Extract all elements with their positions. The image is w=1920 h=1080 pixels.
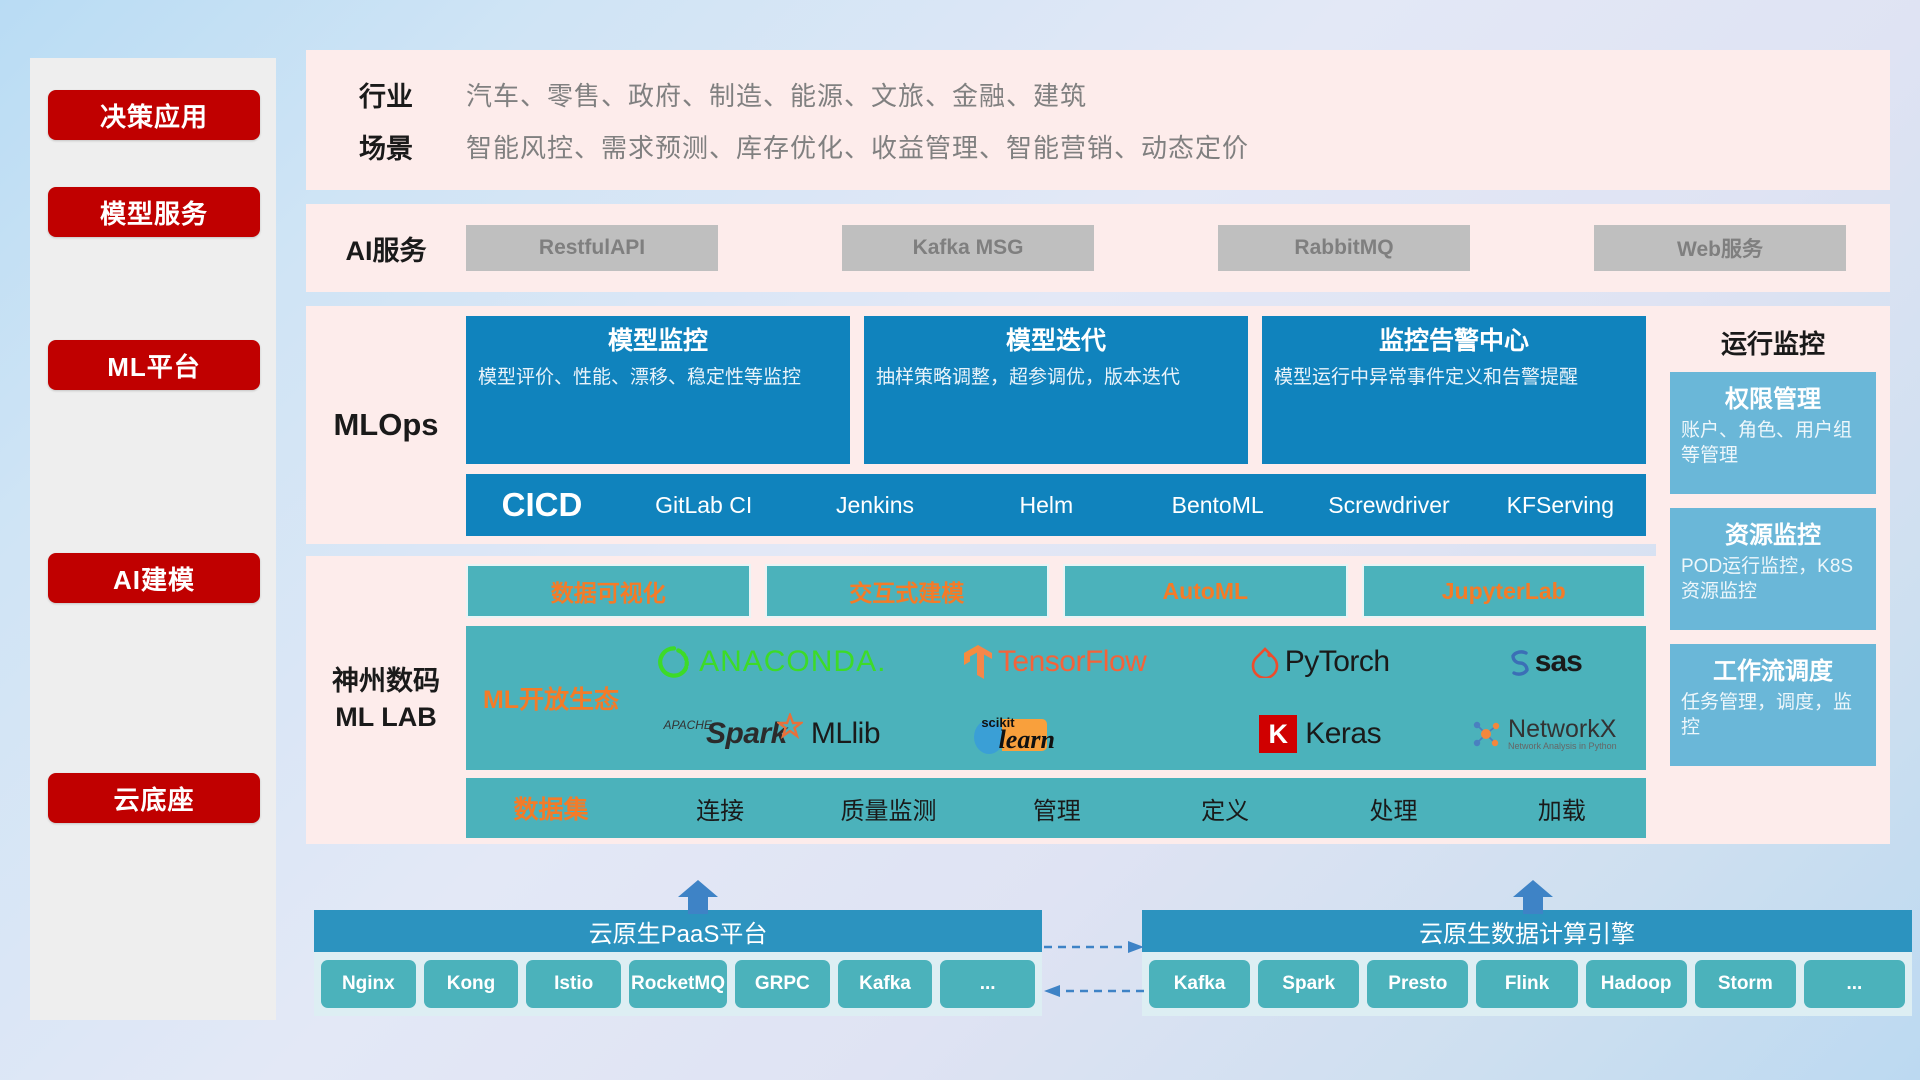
ml-lab-label-line1: 神州数码	[332, 664, 440, 700]
dataset-item-quality[interactable]: 质量监测	[804, 791, 972, 826]
tool-chip-automl[interactable]: AutoML	[1063, 564, 1348, 618]
paas-chip-nginx[interactable]: Nginx	[321, 960, 416, 1008]
pytorch-icon	[1251, 646, 1279, 678]
data-engine-chip-list: Kafka Spark Presto Flink Hadoop Storm ..…	[1142, 952, 1912, 1016]
platform-section: MLOps 模型监控 模型评价、性能、漂移、稳定性等监控 模型迭代 抽样策略调整…	[306, 306, 1890, 844]
card-title: 工作流调度	[1681, 651, 1865, 686]
cicd-item-bentoml[interactable]: BentoML	[1132, 491, 1303, 520]
engine-chip-presto[interactable]: Presto	[1367, 960, 1468, 1008]
learn-word: learn	[999, 725, 1055, 755]
mllib-wordmark: MLlib	[811, 717, 880, 751]
sas-wordmark: sas	[1535, 645, 1582, 679]
networkx-wordmark: NetworkX	[1508, 716, 1617, 742]
industry-label: 行业	[306, 75, 466, 114]
dataset-item-manage[interactable]: 管理	[973, 791, 1141, 826]
engine-chip-kafka[interactable]: Kafka	[1149, 960, 1250, 1008]
ml-lab-label: 神州数码 ML LAB	[306, 556, 466, 844]
ml-ecosystem-label: ML开放生态	[466, 680, 636, 716]
engine-chip-flink[interactable]: Flink	[1476, 960, 1577, 1008]
monitoring-card-permissions[interactable]: 权限管理 账户、角色、用户组等管理	[1670, 372, 1876, 494]
paas-chip-list: Nginx Kong Istio RocketMQ GRPC Kafka ...	[314, 952, 1042, 1016]
dataset-item-process[interactable]: 处理	[1309, 791, 1477, 826]
tensorflow-logo: TensorFlow	[908, 644, 1201, 680]
spark-mllib-logo: APACHE Spark MLlib	[636, 717, 908, 751]
arrow-up-to-ml-lab-right	[1511, 880, 1555, 914]
spark-star-icon	[777, 713, 803, 739]
cloud-group-data-engine: 云原生数据计算引擎 Kafka Spark Presto Flink Hadoo…	[1142, 910, 1912, 1016]
scenario-values: 智能风控、需求预测、库存优化、收益管理、智能营销、动态定价	[466, 128, 1249, 165]
tensorflow-icon	[962, 644, 994, 680]
rail-chip-ml-platform[interactable]: ML平台	[48, 340, 260, 390]
engine-chip-spark[interactable]: Spark	[1258, 960, 1359, 1008]
scenario-row: 场景 智能风控、需求预测、库存优化、收益管理、智能营销、动态定价	[306, 120, 1890, 172]
architecture-main: 行业 汽车、零售、政府、制造、能源、文旅、金融、建筑 场景 智能风控、需求预测、…	[306, 50, 1890, 844]
ecosystem-logo-row-1: ANACONDA. TensorFlow	[636, 626, 1646, 698]
paas-chip-more[interactable]: ...	[940, 960, 1035, 1008]
cicd-item-screwdriver[interactable]: Screwdriver	[1303, 491, 1474, 520]
cicd-item-gitlab[interactable]: GitLab CI	[618, 491, 789, 520]
pytorch-logo: PyTorch	[1201, 645, 1440, 679]
anaconda-wordmark: ANACONDA.	[699, 645, 886, 679]
mlops-body: 模型监控 模型评价、性能、漂移、稳定性等监控 模型迭代 抽样策略调整，超参调优，…	[466, 306, 1656, 544]
monitoring-band: 运行监控 权限管理 账户、角色、用户组等管理 资源监控 POD运行监控，K8S资…	[1656, 306, 1890, 844]
monitoring-title: 运行监控	[1670, 316, 1876, 372]
rail-chip-label: ML平台	[107, 347, 201, 384]
rail-chip-cloud-base[interactable]: 云底座	[48, 773, 260, 823]
ai-service-chip-restful[interactable]: RestfulAPI	[466, 225, 718, 271]
ai-service-chip-web[interactable]: Web服务	[1594, 225, 1846, 271]
cloud-group-paas: 云原生PaaS平台 Nginx Kong Istio RocketMQ GRPC…	[314, 910, 1042, 1016]
sas-icon	[1504, 646, 1534, 678]
keras-wordmark: Keras	[1305, 717, 1381, 751]
ml-ecosystem-logos: ANACONDA. TensorFlow	[636, 626, 1646, 770]
cicd-bar: CICD GitLab CI Jenkins Helm BentoML Scre…	[466, 474, 1646, 536]
paas-chip-istio[interactable]: Istio	[526, 960, 621, 1008]
mlops-card-model-iteration[interactable]: 模型迭代 抽样策略调整，超参调优，版本迭代	[864, 316, 1248, 464]
card-desc: 账户、角色、用户组等管理	[1681, 419, 1865, 468]
cicd-title: CICD	[466, 486, 618, 524]
tool-chip-interactive-modeling[interactable]: 交互式建模	[765, 564, 1050, 618]
connector-dashed-right	[1042, 935, 1146, 1005]
mlops-card-list: 模型监控 模型评价、性能、漂移、稳定性等监控 模型迭代 抽样策略调整，超参调优，…	[466, 306, 1646, 464]
spark-wordmark: Spark	[706, 717, 787, 751]
rail-chip-ai-modeling[interactable]: AI建模	[48, 553, 260, 603]
apache-label: APACHE	[663, 718, 711, 732]
ml-lab-label-line2: ML LAB	[332, 700, 440, 736]
anaconda-logo: ANACONDA.	[636, 645, 908, 679]
ml-ecosystem-row: ML开放生态 ANACONDA.	[466, 626, 1646, 770]
rail-chip-label: AI建模	[113, 560, 195, 597]
ai-service-chip-kafka[interactable]: Kafka MSG	[842, 225, 1094, 271]
card-desc: 模型运行中异常事件定义和告警提醒	[1274, 365, 1634, 391]
cicd-item-jenkins[interactable]: Jenkins	[789, 491, 960, 520]
industry-values: 汽车、零售、政府、制造、能源、文旅、金融、建筑	[466, 76, 1087, 113]
paas-title: 云原生PaaS平台	[314, 910, 1042, 952]
networkx-text: NetworkX Network Analysis in Python	[1508, 716, 1617, 752]
card-title: 权限管理	[1681, 379, 1865, 414]
sas-logo: sas	[1440, 645, 1646, 679]
card-title: 模型迭代	[876, 325, 1236, 358]
monitoring-card-resources[interactable]: 资源监控 POD运行监控，K8S资源监控	[1670, 508, 1876, 630]
paas-chip-kafka[interactable]: Kafka	[838, 960, 933, 1008]
networkx-logo: NetworkX Network Analysis in Python	[1440, 716, 1646, 752]
mlops-card-model-monitoring[interactable]: 模型监控 模型评价、性能、漂移、稳定性等监控	[466, 316, 850, 464]
cloud-base-section: 云原生PaaS平台 Nginx Kong Istio RocketMQ GRPC…	[306, 880, 1920, 1050]
ai-service-chip-rabbitmq[interactable]: RabbitMQ	[1218, 225, 1470, 271]
decision-apps-band: 行业 汽车、零售、政府、制造、能源、文旅、金融、建筑 场景 智能风控、需求预测、…	[306, 50, 1890, 190]
ai-modeling-body: 数据可视化 交互式建模 AutoML JupyterLab ML开放生态	[466, 556, 1656, 844]
data-engine-title: 云原生数据计算引擎	[1142, 910, 1912, 952]
modeling-tool-list: 数据可视化 交互式建模 AutoML JupyterLab	[466, 564, 1646, 618]
rail-chip-label: 模型服务	[100, 194, 208, 231]
mlops-card-alert-center[interactable]: 监控告警中心 模型运行中异常事件定义和告警提醒	[1262, 316, 1646, 464]
paas-chip-grpc[interactable]: GRPC	[735, 960, 830, 1008]
ai-service-chip-list: RestfulAPI Kafka MSG RabbitMQ Web服务	[466, 225, 1890, 271]
platform-left-column: MLOps 模型监控 模型评价、性能、漂移、稳定性等监控 模型迭代 抽样策略调整…	[306, 306, 1656, 844]
dataset-item-connect[interactable]: 连接	[636, 791, 804, 826]
tool-chip-jupyterlab[interactable]: JupyterLab	[1362, 564, 1647, 618]
anaconda-icon	[657, 645, 691, 679]
monitoring-card-workflow[interactable]: 工作流调度 任务管理，调度，监控	[1670, 644, 1876, 766]
ai-service-band: AI服务 RestfulAPI Kafka MSG RabbitMQ Web服务	[306, 204, 1890, 292]
keras-icon: K	[1259, 715, 1297, 753]
ai-service-label: AI服务	[306, 229, 466, 268]
dataset-label: 数据集	[466, 790, 636, 826]
mlops-band: MLOps 模型监控 模型评价、性能、漂移、稳定性等监控 模型迭代 抽样策略调整…	[306, 306, 1656, 544]
ecosystem-logo-row-2: APACHE Spark MLlib	[636, 698, 1646, 770]
rail-chip-label: 决策应用	[100, 97, 208, 134]
dataset-item-define[interactable]: 定义	[1141, 791, 1309, 826]
card-desc: 任务管理，调度，监控	[1681, 691, 1865, 740]
ai-modeling-band: 神州数码 ML LAB 数据可视化 交互式建模 AutoML JupyterLa…	[306, 556, 1656, 844]
engine-chip-hadoop[interactable]: Hadoop	[1586, 960, 1687, 1008]
card-title: 监控告警中心	[1274, 325, 1634, 358]
pytorch-wordmark: PyTorch	[1285, 645, 1390, 679]
card-desc: POD运行监控，K8S资源监控	[1681, 555, 1865, 604]
industry-row: 行业 汽车、零售、政府、制造、能源、文旅、金融、建筑	[306, 68, 1890, 120]
dataset-row: 数据集 连接 质量监测 管理 定义 处理 加载	[466, 778, 1646, 838]
keras-logo: K Keras	[1201, 715, 1440, 753]
card-desc: 模型评价、性能、漂移、稳定性等监控	[478, 365, 838, 391]
card-title: 模型监控	[478, 325, 838, 358]
mlops-label: MLOps	[306, 306, 466, 544]
layer-rail: 决策应用 模型服务 ML平台 AI建模 云底座	[30, 58, 276, 1020]
keras-k-glyph: K	[1268, 719, 1288, 750]
cicd-item-helm[interactable]: Helm	[961, 491, 1132, 520]
card-desc: 抽样策略调整，超参调优，版本迭代	[876, 365, 1236, 391]
scenario-label: 场景	[306, 127, 466, 166]
rail-chip-decision[interactable]: 决策应用	[48, 90, 260, 140]
cicd-item-kfserving[interactable]: KFServing	[1475, 491, 1646, 520]
rail-chip-model-service[interactable]: 模型服务	[48, 187, 260, 237]
paas-chip-rocketmq[interactable]: RocketMQ	[629, 960, 727, 1008]
networkx-icon	[1469, 717, 1503, 751]
paas-chip-kong[interactable]: Kong	[424, 960, 519, 1008]
scikit-learn-logo: scikit learn	[908, 711, 1201, 757]
engine-chip-more[interactable]: ...	[1804, 960, 1905, 1008]
tool-chip-data-visualization[interactable]: 数据可视化	[466, 564, 751, 618]
tensorflow-wordmark: TensorFlow	[998, 645, 1146, 679]
engine-chip-storm[interactable]: Storm	[1695, 960, 1796, 1008]
rail-chip-label: 云底座	[113, 780, 194, 817]
runtime-monitoring-column: 运行监控 权限管理 账户、角色、用户组等管理 资源监控 POD运行监控，K8S资…	[1656, 306, 1890, 844]
networkx-tagline: Network Analysis in Python	[1508, 742, 1617, 751]
card-title: 资源监控	[1681, 515, 1865, 550]
arrow-up-to-ml-lab-left	[676, 880, 720, 914]
dataset-item-load[interactable]: 加载	[1478, 791, 1646, 826]
